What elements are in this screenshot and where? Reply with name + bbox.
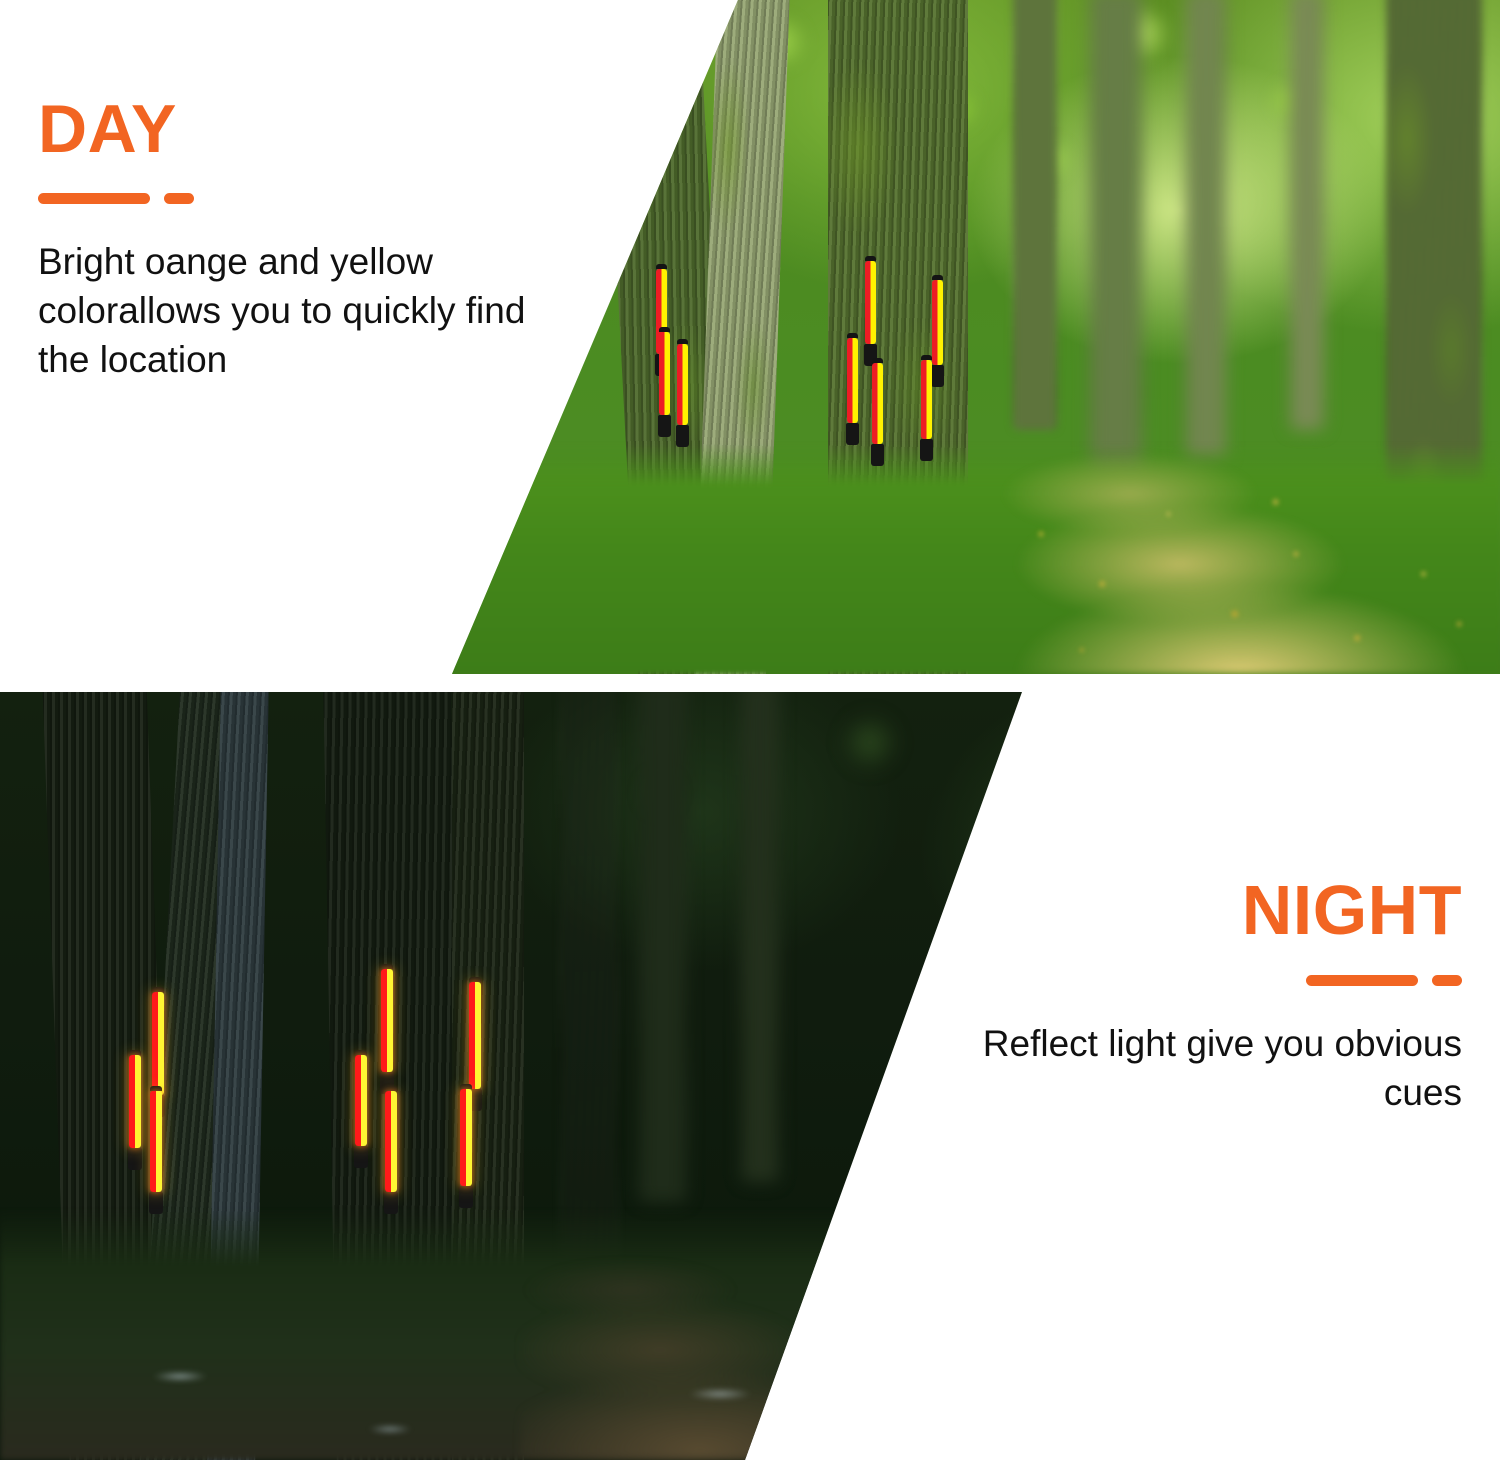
divider-short-dash bbox=[1432, 975, 1462, 986]
tree-trunk-mid bbox=[1013, 0, 1057, 430]
marker-reflective-strip bbox=[129, 1055, 141, 1148]
marker-reflective-strip bbox=[659, 332, 670, 415]
bark-texture bbox=[1290, 0, 1324, 430]
reflective-marker bbox=[129, 1050, 141, 1170]
reflective-marker bbox=[381, 964, 393, 1094]
reflective-marker bbox=[659, 327, 670, 437]
reflective-marker bbox=[677, 339, 688, 447]
reflective-marker bbox=[872, 358, 883, 466]
night-snow-patches bbox=[0, 1240, 1500, 1460]
marker-base-clip bbox=[871, 444, 883, 466]
marker-reflective-strip bbox=[872, 363, 883, 444]
marker-reflective-strip bbox=[847, 338, 858, 423]
reflective-marker bbox=[355, 1050, 367, 1168]
marker-reflective-strip bbox=[385, 1091, 397, 1192]
divider-long-dash bbox=[38, 193, 150, 204]
marker-base-clip bbox=[354, 1146, 367, 1168]
reflective-marker bbox=[385, 1086, 397, 1214]
night-body-text: Reflect light give you obvious cues bbox=[980, 1020, 1462, 1118]
night-text-block: NIGHT Reflect light give you obvious cue… bbox=[980, 875, 1462, 1118]
marker-base-clip bbox=[846, 423, 858, 445]
day-divider bbox=[38, 193, 558, 204]
divider-long-dash bbox=[1306, 975, 1418, 986]
day-text-block: DAY Bright oange and yellow colorallows … bbox=[38, 95, 558, 384]
marker-reflective-strip bbox=[381, 969, 393, 1072]
marker-reflective-strip bbox=[152, 992, 164, 1095]
night-heading: NIGHT bbox=[980, 875, 1462, 945]
bark-texture bbox=[640, 692, 686, 1202]
marker-reflective-strip bbox=[921, 360, 932, 439]
tree-trunk-distant bbox=[1290, 0, 1324, 430]
reflective-marker bbox=[932, 275, 943, 387]
marker-reflective-strip bbox=[865, 261, 876, 344]
marker-base-clip bbox=[384, 1192, 397, 1214]
infographic-canvas: DAY Bright oange and yellow colorallows … bbox=[0, 0, 1500, 1460]
marker-base-clip bbox=[676, 425, 688, 447]
reflective-marker bbox=[921, 355, 932, 461]
marker-base-clip bbox=[658, 415, 670, 437]
marker-reflective-strip bbox=[150, 1091, 162, 1192]
marker-reflective-strip bbox=[460, 1089, 472, 1186]
reflective-marker bbox=[847, 333, 858, 445]
marker-base-clip bbox=[128, 1148, 141, 1170]
marker-base-clip bbox=[920, 439, 932, 461]
marker-reflective-strip bbox=[932, 280, 943, 365]
reflective-marker bbox=[460, 1084, 472, 1208]
reflective-marker bbox=[150, 1086, 162, 1214]
day-heading: DAY bbox=[38, 95, 558, 163]
reflective-marker bbox=[865, 256, 876, 366]
divider-short-dash bbox=[164, 193, 194, 204]
marker-base-clip bbox=[149, 1192, 162, 1214]
marker-reflective-strip bbox=[355, 1055, 367, 1146]
marker-base-clip bbox=[459, 1186, 472, 1208]
bark-texture bbox=[742, 692, 778, 1182]
marker-reflective-strip bbox=[677, 344, 688, 425]
bark-texture bbox=[1013, 0, 1057, 430]
tree-trunk-distant bbox=[640, 692, 686, 1202]
day-leaf-litter bbox=[990, 474, 1500, 674]
marker-reflective-strip bbox=[469, 982, 481, 1089]
day-body-text: Bright oange and yellow colorallows you … bbox=[38, 238, 558, 384]
night-divider bbox=[980, 975, 1462, 986]
tree-trunk-distant bbox=[742, 692, 778, 1182]
marker-base-clip bbox=[931, 365, 943, 387]
